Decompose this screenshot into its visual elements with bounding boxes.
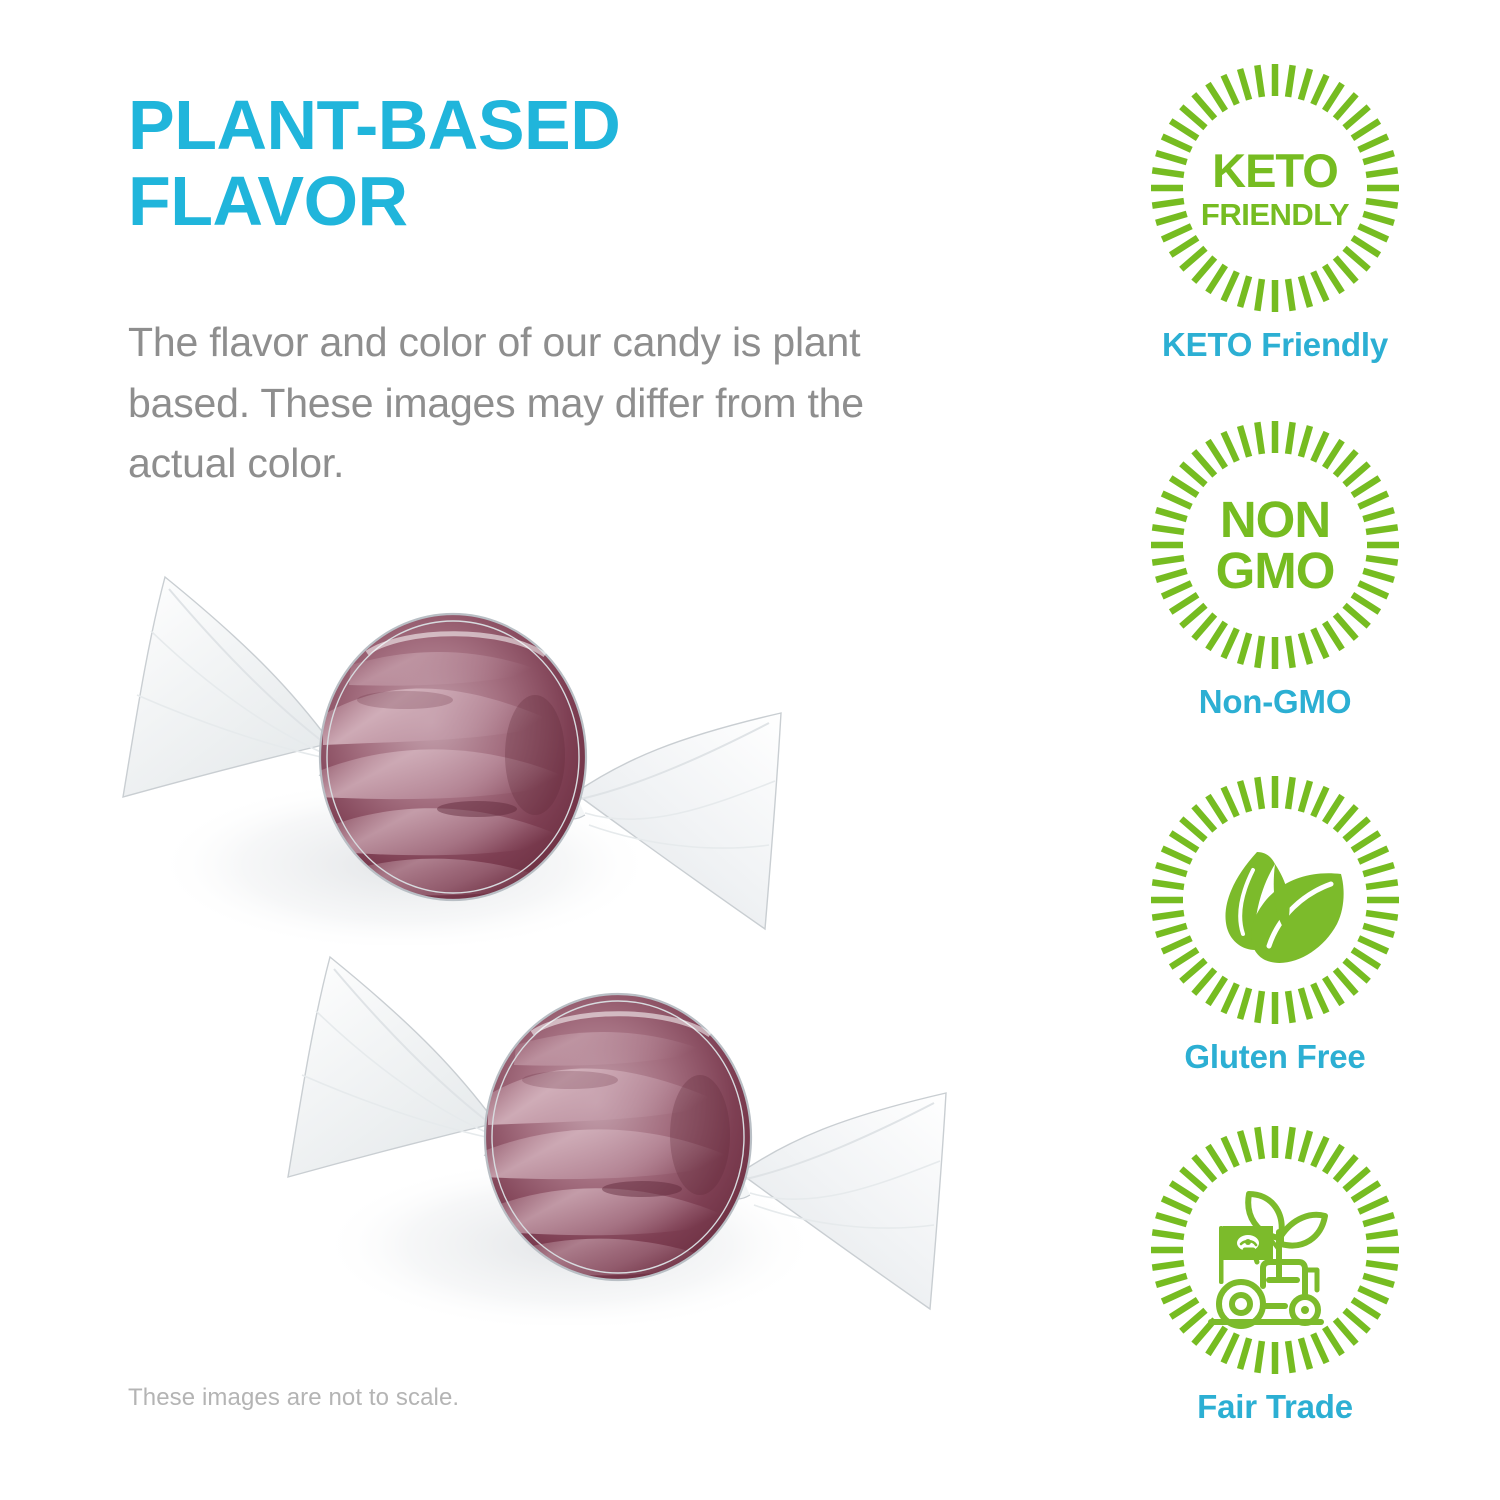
sunburst-rays <box>1145 1120 1405 1380</box>
wrapper-tail-left <box>288 957 496 1177</box>
tractor-sprout-flag-sunburst-icon <box>1145 1120 1405 1380</box>
page-title: PLANT-BASED FLAVOR <box>128 88 988 239</box>
scale-disclaimer: These images are not to scale. <box>128 1384 459 1412</box>
certification-badges-column: KETO FRIENDLY KETO Friendly NON GMO Non-… <box>1050 0 1500 1500</box>
badge-label-keto: KETO Friendly <box>1050 326 1500 364</box>
badge-label-non-gmo: Non-GMO <box>1050 683 1500 721</box>
badge-label-fair-trade: Fair Trade <box>1050 1388 1500 1426</box>
product-infographic: PLANT-BASED FLAVOR The flavor and color … <box>0 0 1500 1500</box>
page-subtext: The flavor and color of our candy is pla… <box>128 312 958 494</box>
left-content-column: PLANT-BASED FLAVOR The flavor and color … <box>0 0 1050 1500</box>
keto-sunburst-icon: KETO FRIENDLY <box>1145 58 1405 318</box>
candy-image-bottom <box>270 925 960 1325</box>
sunburst-rays <box>1145 415 1405 675</box>
candy-graphic <box>105 545 795 945</box>
non-gmo-sunburst-icon: NON GMO <box>1145 415 1405 675</box>
sunburst-rays <box>1145 770 1405 1030</box>
sunburst-rays <box>1145 58 1405 318</box>
candy-graphic <box>270 925 960 1325</box>
badge-non-gmo: NON GMO Non-GMO <box>1050 415 1500 721</box>
badge-label-gluten-free: Gluten Free <box>1050 1038 1500 1076</box>
badge-fair-trade: Fair Trade <box>1050 1120 1500 1426</box>
badge-keto-friendly: KETO FRIENDLY KETO Friendly <box>1050 58 1500 364</box>
badge-gluten-free: Gluten Free <box>1050 770 1500 1076</box>
tractor-icon <box>1211 1250 1321 1326</box>
leaf-icon <box>1225 852 1343 963</box>
page-title-line-2: FLAVOR <box>128 162 408 240</box>
page-title-line-1: PLANT-BASED <box>128 86 620 164</box>
wrapper-tail-left <box>123 577 331 797</box>
leaves-sunburst-icon <box>1145 770 1405 1030</box>
candy-image-top <box>105 545 795 945</box>
